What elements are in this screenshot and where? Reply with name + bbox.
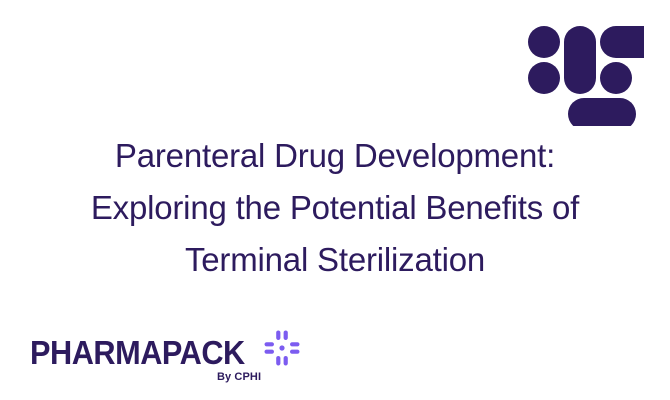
- starburst-icon: [262, 328, 302, 368]
- slide-canvas: Parenteral Drug Development: Exploring t…: [0, 0, 670, 400]
- pharmapack-logo: PHARMAPACK: [30, 334, 300, 390]
- page-title: Parenteral Drug Development: Exploring t…: [0, 130, 670, 286]
- title-line-1: Parenteral Drug Development:: [0, 130, 670, 182]
- cphi-dot-grid-logo: [528, 26, 644, 126]
- title-line-2: Exploring the Potential Benefits of: [0, 182, 670, 234]
- pharmapack-wordmark: PHARMAPACK: [30, 334, 245, 372]
- title-line-3: Terminal Sterilization: [0, 234, 670, 286]
- pharmapack-byline: By CPHI: [217, 370, 261, 384]
